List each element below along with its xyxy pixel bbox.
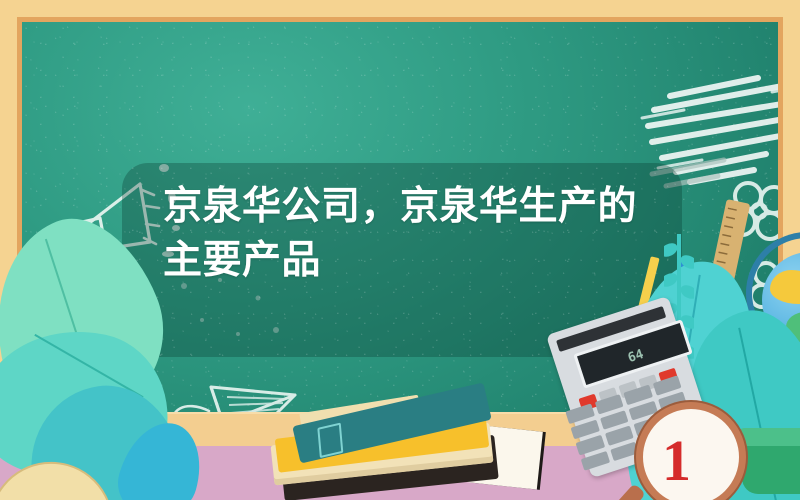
desk-scene: 64 — [0, 270, 800, 500]
plant-pot-rim — [736, 428, 800, 446]
page-title-line-1: 京泉华公司，京泉华生产的 — [163, 185, 637, 228]
cover-card: 京泉华公司，京泉华生产的主要产品 — [0, 0, 800, 500]
magnified-number: 1 — [662, 427, 691, 494]
